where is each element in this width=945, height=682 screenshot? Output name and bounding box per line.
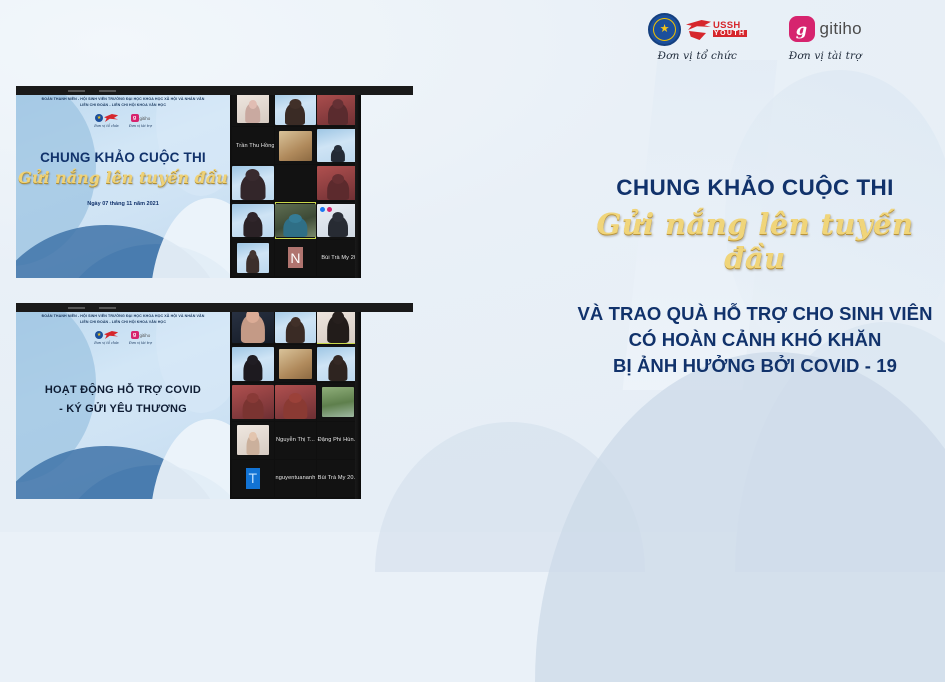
gitiho-mark-icon: g — [131, 114, 139, 122]
slide-funder-logo: g gitiho Đơn vị tài trợ — [129, 114, 152, 129]
facebook-icon — [320, 207, 325, 212]
participant-tile[interactable] — [317, 383, 359, 420]
slide-logos-top: ★ Đơn vị tổ chức g gitiho Đơn vị tài trợ — [94, 114, 152, 129]
participant-video — [275, 385, 317, 419]
participant-silhouette — [243, 358, 262, 381]
badge-icons — [320, 207, 332, 212]
participant-silhouette — [327, 178, 349, 200]
funder-caption: Đơn vị tài trợ — [789, 50, 862, 62]
ussh-youth-icon — [104, 331, 118, 339]
participant-name: Bùi Trà My 20... — [321, 255, 359, 261]
participant-tile[interactable] — [232, 165, 274, 201]
toolbar-line-icon — [68, 90, 85, 92]
participant-video — [275, 308, 317, 342]
participant-name: Bùi Trà My 20... — [318, 475, 359, 481]
participant-video — [232, 308, 274, 342]
ussh-youth-logo: USSH YOUTH — [686, 17, 747, 41]
participant-grid-top: Trần Thu Hồng N Bùi Trà My 20... — [230, 86, 361, 278]
slide-organizer-marks: ★ — [95, 331, 118, 340]
hero-body-line-3: BỊ ẢNH HƯỞNG BỞI COVID - 19 — [575, 353, 935, 379]
participant-video — [232, 166, 274, 199]
ussh-union-emblem-icon: ★ — [95, 114, 103, 122]
star-icon: ★ — [660, 24, 670, 35]
participant-tile[interactable] — [232, 90, 274, 126]
slide-organizer-marks: ★ — [95, 114, 118, 123]
participant-video — [237, 243, 269, 273]
toolbar-line-icon — [68, 307, 85, 309]
participant-tile[interactable]: Đặng Phi Hùn... — [317, 422, 359, 459]
slide-title-line1: HOẠT ĐỘNG HỖ TRỢ COVID — [45, 381, 201, 400]
participant-tile[interactable]: Trần Thu Hồng — [232, 127, 274, 163]
participant-tile[interactable] — [232, 202, 274, 238]
gitiho-wordmark: gitiho — [140, 333, 151, 338]
participant-tile[interactable]: Bùi Trà My 20... — [317, 460, 359, 497]
gitiho-mark-icon: g — [789, 16, 815, 42]
participant-video — [322, 387, 355, 418]
participant-avatar: N — [288, 247, 302, 268]
participant-silhouette — [284, 217, 307, 237]
zoom-toolbar-bottom[interactable] — [16, 303, 413, 312]
hero-body-line-2: CÓ HOÀN CẢNH KHÓ KHĂN — [575, 327, 935, 353]
participant-video — [317, 347, 359, 381]
participant-tile[interactable] — [275, 127, 317, 163]
participant-video — [317, 204, 359, 237]
capture-inner-top: ĐOÀN THANH NIÊN - HỘI SINH VIÊN TRƯỜNG Đ… — [16, 86, 361, 278]
slide-org-line2: LIÊN CHI ĐOÀN - LIÊN CHI HỘI KHOA VĂN HỌ… — [80, 320, 166, 326]
slide-content-bottom: ĐOÀN THANH NIÊN - HỘI SINH VIÊN TRƯỜNG Đ… — [16, 303, 230, 499]
participant-video — [317, 166, 359, 199]
slide-title-line2: - KÝ GỬI YÊU THƯƠNG — [45, 400, 201, 419]
logo-dot-icon — [327, 207, 332, 212]
participant-tile[interactable] — [275, 307, 317, 344]
participant-silhouette — [243, 215, 262, 237]
participant-tile-active-speaker[interactable] — [275, 202, 317, 238]
participant-tile[interactable]: T — [232, 460, 274, 497]
slide-script-top: Gửi nắng lên tuyến đầu — [18, 168, 228, 187]
participant-tile[interactable] — [317, 202, 359, 238]
participant-tile[interactable] — [275, 90, 317, 126]
capture-right-edge — [355, 86, 361, 278]
ussh-union-emblem-icon: ★ — [648, 13, 681, 46]
zoom-toolbar-top[interactable] — [16, 86, 413, 95]
funder-logos: g gitiho — [789, 12, 862, 46]
slide-funder-caption: Đơn vị tài trợ — [129, 124, 152, 128]
slide-title-block-bottom: HOẠT ĐỘNG HỖ TRỢ COVID - KÝ GỬI YÊU THƯƠ… — [45, 381, 201, 420]
participant-video — [275, 91, 317, 124]
participant-tile[interactable] — [232, 240, 274, 276]
gitiho-wordmark: gitiho — [140, 116, 151, 121]
slide-organizer-caption: Đơn vị tổ chức — [94, 341, 119, 345]
participant-video — [237, 93, 269, 123]
participant-video — [317, 308, 359, 342]
participant-tile[interactable] — [317, 127, 359, 163]
participant-tile[interactable]: Nguyễn Thị T... — [275, 422, 317, 459]
hero-body: VÀ TRAO QUÀ HỖ TRỢ CHO SINH VIÊN CÓ HOÀN… — [575, 301, 935, 380]
meeting-screenshot-top[interactable]: ĐOÀN THANH NIÊN - HỘI SINH VIÊN TRƯỜNG Đ… — [16, 86, 361, 278]
hero-script-title: Gửi nắng lên tuyến đầu — [575, 207, 935, 275]
ussh-union-emblem-icon: ★ — [95, 331, 103, 339]
bird-icon — [686, 17, 712, 41]
ussh-youth-wordmark: USSH YOUTH — [713, 21, 747, 38]
participant-silhouette — [331, 148, 345, 163]
participant-name: Đặng Phi Hùn... — [318, 437, 359, 443]
capture-right-edge — [355, 303, 361, 499]
participant-video — [279, 131, 312, 161]
participant-tile[interactable] — [317, 90, 359, 126]
slide-title-top: CHUNG KHẢO CUỘC THI — [40, 150, 206, 165]
gitiho-mark-icon: g — [131, 331, 139, 339]
hero-title: CHUNG KHẢO CUỘC THI — [575, 176, 935, 201]
slide-logos-bottom: ★ Đơn vị tổ chức g gitiho Đơn vị tài trợ — [94, 331, 152, 346]
participant-silhouette — [241, 314, 265, 343]
participant-tile[interactable] — [232, 383, 274, 420]
participant-silhouette — [328, 103, 348, 125]
organizer-logos: ★ USSH YOUTH — [648, 12, 747, 46]
participant-video — [275, 204, 317, 237]
participant-tile[interactable]: N — [275, 240, 317, 276]
toolbar-line-icon — [99, 307, 116, 309]
meeting-screenshot-bottom[interactable]: ĐOÀN THANH NIÊN - HỘI SINH VIÊN TRƯỜNG Đ… — [16, 303, 361, 499]
participant-video — [279, 349, 312, 380]
participant-silhouette — [286, 320, 304, 343]
slide-organizer-logo: ★ Đơn vị tổ chức — [94, 114, 119, 129]
hero-body-line-1: VÀ TRAO QUÀ HỖ TRỢ CHO SINH VIÊN — [575, 301, 935, 327]
participant-silhouette — [242, 397, 263, 420]
ussh-line2: YOUTH — [713, 30, 747, 37]
organizer-block: ★ USSH YOUTH Đơn vị tổ chức — [648, 12, 747, 62]
slide-content-top: ĐOÀN THANH NIÊN - HỘI SINH VIÊN TRƯỜNG Đ… — [16, 86, 230, 278]
participant-silhouette — [328, 216, 348, 237]
slide-funder-marks: g gitiho — [131, 331, 151, 340]
shared-slide-top: ĐOÀN THANH NIÊN - HỘI SINH VIÊN TRƯỜNG Đ… — [16, 86, 230, 278]
slide-organizer-logo: ★ Đơn vị tổ chức — [94, 331, 119, 346]
ussh-youth-icon — [104, 114, 118, 122]
toolbar-line-icon — [99, 90, 116, 92]
capture-inner-bottom: ĐOÀN THANH NIÊN - HỘI SINH VIÊN TRƯỜNG Đ… — [16, 303, 361, 499]
participant-video — [232, 385, 274, 419]
participant-name: Nguyễn Thị T... — [276, 437, 315, 443]
participant-video — [317, 91, 359, 124]
participant-video — [232, 204, 274, 237]
participant-silhouette — [329, 358, 348, 381]
funder-block: g gitiho Đơn vị tài trợ — [789, 12, 862, 62]
slide-org-line2: LIÊN CHI ĐOÀN - LIÊN CHI HỘI KHOA VĂN HỌ… — [80, 103, 166, 109]
participant-video — [232, 347, 274, 381]
participant-avatar: T — [246, 468, 260, 490]
participant-tile[interactable] — [275, 165, 317, 201]
participant-tile[interactable] — [275, 345, 317, 382]
participant-tile[interactable]: Bùi Trà My 20... — [317, 240, 359, 276]
participant-grid-bottom: Nguyễn Thị T... Đặng Phi Hùn... T nguyen… — [230, 303, 361, 499]
participant-tile[interactable] — [232, 422, 274, 459]
participant-silhouette — [285, 103, 305, 125]
shared-slide-bottom: ĐOÀN THANH NIÊN - HỘI SINH VIÊN TRƯỜNG Đ… — [16, 303, 230, 499]
slide-funder-marks: g gitiho — [131, 114, 151, 123]
participant-tile[interactable] — [232, 307, 274, 344]
organizer-caption: Đơn vị tổ chức — [657, 50, 737, 62]
slide-organizer-caption: Đơn vị tổ chức — [94, 124, 119, 128]
participant-name: nguyentuananh — [276, 475, 316, 481]
participant-tile[interactable] — [232, 345, 274, 382]
participant-silhouette — [240, 174, 265, 200]
participant-video — [237, 425, 269, 456]
slide-funder-logo: g gitiho Đơn vị tài trợ — [129, 331, 152, 346]
participant-silhouette — [284, 397, 307, 420]
slide-date: Ngày 07 tháng 11 năm 2021 — [87, 201, 159, 207]
participant-tile[interactable]: nguyentuananh — [275, 460, 317, 497]
gitiho-wordmark: gitiho — [820, 19, 862, 39]
sponsor-bar: ★ USSH YOUTH Đơn vị tổ chức g gitiho Đơn… — [648, 12, 862, 62]
participant-silhouette — [246, 253, 260, 273]
slide-funder-caption: Đơn vị tài trợ — [129, 341, 152, 345]
participant-tile[interactable] — [317, 165, 359, 201]
participant-tile-active-speaker[interactable] — [317, 307, 359, 344]
participant-silhouette — [246, 435, 259, 455]
ussh-line1: USSH — [713, 21, 747, 31]
participant-tile[interactable] — [275, 383, 317, 420]
participant-video — [317, 129, 359, 162]
participant-silhouette — [245, 103, 261, 123]
participant-silhouette — [327, 315, 349, 342]
participant-tile[interactable] — [317, 345, 359, 382]
hero-text-block: CHUNG KHẢO CUỘC THI Gửi nắng lên tuyến đ… — [575, 176, 935, 380]
participant-name: Trần Thu Hồng — [236, 143, 274, 149]
